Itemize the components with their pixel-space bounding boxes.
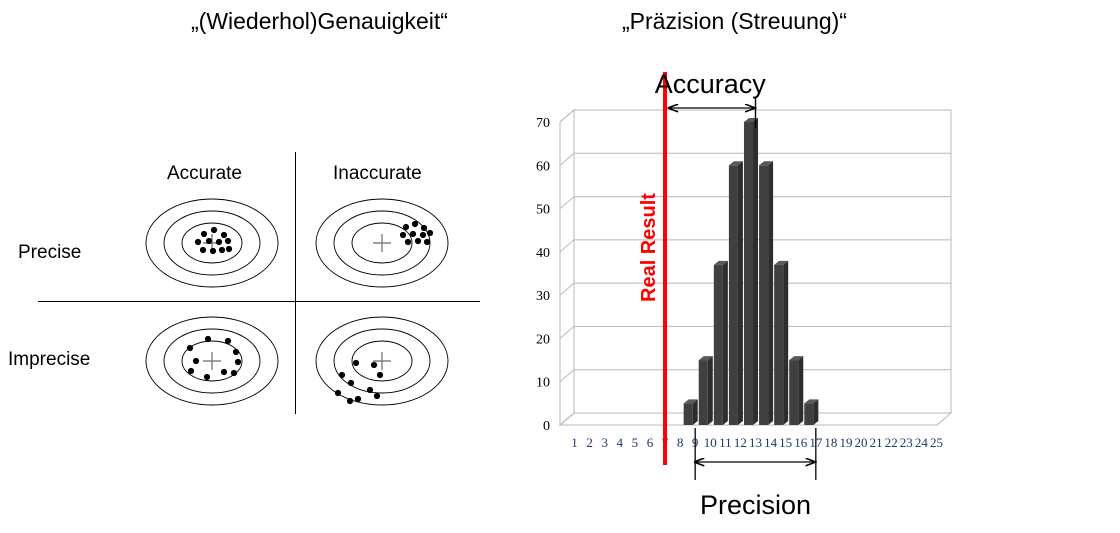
x-axis-tick-label: 8: [677, 435, 684, 450]
chart-left-wall: [560, 110, 574, 425]
data-point-dot: [204, 374, 210, 380]
chart-bar: [789, 356, 803, 425]
data-point-dot: [210, 248, 216, 254]
x-axis-tick-label: 12: [734, 435, 747, 450]
data-point-dot: [231, 370, 237, 376]
y-axis-tick-label: 70: [536, 116, 550, 131]
target-rings-accurate-precise: [144, 197, 280, 289]
chart-bar: [759, 161, 773, 425]
x-axis-tick-label: 19: [839, 435, 852, 450]
target-inaccurate-imprecise: [314, 315, 450, 407]
x-axis-tick-label: 4: [617, 435, 624, 450]
data-point-dot: [405, 239, 411, 245]
quadrant-horizontal-divider: [38, 301, 480, 302]
x-axis-tick-label: 2: [586, 435, 593, 450]
data-point-dot: [412, 221, 418, 227]
data-point-dot: [221, 232, 227, 238]
y-axis-tick-label: 30: [536, 289, 550, 304]
data-point-dot: [367, 387, 373, 393]
quadrant-row-label-precise: Precise: [18, 242, 81, 264]
x-axis-tick-label: 5: [632, 435, 639, 450]
data-point-dot: [371, 362, 377, 368]
x-axis-tick-label: 11: [719, 435, 732, 450]
data-point-dot: [335, 390, 341, 396]
target-accurate-precise: [144, 197, 280, 289]
data-point-dot: [187, 345, 193, 351]
accuracy-label: Accuracy: [655, 69, 767, 99]
data-point-dot: [195, 239, 201, 245]
x-axis-tick-label: 1: [571, 435, 578, 450]
x-axis-tick-label: 25: [930, 435, 943, 450]
quadrant-column-label-accurate: Accurate: [167, 163, 242, 185]
target-accurate-imprecise: [144, 315, 280, 407]
data-point-dot: [347, 398, 353, 404]
x-axis-tick-label: 22: [885, 435, 898, 450]
data-point-dot: [206, 238, 212, 244]
data-point-dot: [421, 225, 427, 231]
quadrant-vertical-divider: [295, 152, 296, 414]
target-rings-inaccurate-imprecise: [314, 315, 450, 407]
data-point-dot: [188, 368, 194, 374]
chart-bar: [744, 118, 758, 425]
target-rings-accurate-imprecise: [144, 315, 280, 407]
x-axis-tick-label: 6: [647, 435, 654, 450]
y-axis-tick-label: 0: [543, 419, 550, 434]
chart-bar: [774, 261, 788, 425]
data-point-dot: [348, 380, 354, 386]
x-axis-tick-label: 21: [870, 435, 883, 450]
data-point-dot: [221, 369, 227, 375]
page-title-left: „(Wiederhol)Genauigkeit“: [191, 8, 448, 35]
precision-label: Precision: [700, 490, 811, 520]
chart-bar: [729, 161, 743, 425]
data-point-dot: [377, 372, 383, 378]
data-point-dot: [233, 349, 239, 355]
x-axis-tick-label: 24: [915, 435, 929, 450]
chart-canvas: 0102030405060701234567891011121314151617…: [500, 50, 1120, 533]
data-point-dot: [201, 231, 207, 237]
data-point-dot: [355, 396, 361, 402]
y-axis-tick-label: 50: [536, 203, 550, 218]
data-point-dot: [205, 336, 211, 342]
data-point-dot: [374, 393, 380, 399]
crosshair-icon: [373, 234, 391, 252]
data-point-dot: [235, 359, 241, 365]
chart-bar: [684, 399, 698, 425]
data-point-dot: [403, 224, 409, 230]
data-point-dot: [226, 246, 232, 252]
data-point-dot: [225, 338, 231, 344]
data-point-dot: [216, 239, 222, 245]
chart-bar: [714, 261, 728, 425]
data-point-dot: [415, 238, 421, 244]
chart-bar: [804, 399, 818, 425]
y-axis-tick-label: 60: [536, 159, 550, 174]
y-axis-tick-label: 20: [536, 332, 550, 347]
data-point-dot: [400, 232, 406, 238]
data-point-dot: [225, 238, 231, 244]
precision-histogram-chart: 0102030405060701234567891011121314151617…: [500, 50, 1120, 533]
x-axis-tick-label: 16: [794, 435, 808, 450]
x-axis-tick-label: 13: [749, 435, 762, 450]
y-axis-tick-label: 10: [536, 376, 550, 391]
data-point-dot: [219, 247, 225, 253]
data-point-dot: [339, 372, 345, 378]
data-point-dot: [410, 231, 416, 237]
quadrant-column-label-inaccurate: Inaccurate: [333, 163, 422, 185]
x-axis-tick-label: 20: [855, 435, 868, 450]
data-point-dot: [420, 232, 426, 238]
x-axis-tick-label: 18: [824, 435, 837, 450]
data-point-dot: [353, 360, 359, 366]
data-point-dot: [193, 358, 199, 364]
data-point-dot: [427, 230, 433, 236]
data-point-dot: [200, 247, 206, 253]
target-inaccurate-precise: [314, 197, 450, 289]
target-rings-inaccurate-precise: [314, 197, 450, 289]
crosshair-icon: [203, 352, 221, 370]
y-axis-tick-label: 40: [536, 246, 550, 261]
data-point-dot: [424, 239, 430, 245]
accuracy-precision-quadrant-diagram: Accurate Inaccurate Precise Imprecise: [0, 150, 480, 450]
real-result-label: Real Result: [638, 193, 660, 302]
x-axis-tick-label: 15: [779, 435, 792, 450]
x-axis-tick-label: 3: [601, 435, 608, 450]
chart-bar: [699, 356, 713, 425]
x-axis-tick-label: 23: [900, 435, 913, 450]
page-title-right: „Präzision (Streuung)“: [622, 8, 847, 35]
x-axis-tick-label: 10: [704, 435, 717, 450]
x-axis-tick-label: 14: [764, 435, 778, 450]
data-point-dot: [211, 227, 217, 233]
quadrant-row-label-imprecise: Imprecise: [8, 349, 90, 371]
